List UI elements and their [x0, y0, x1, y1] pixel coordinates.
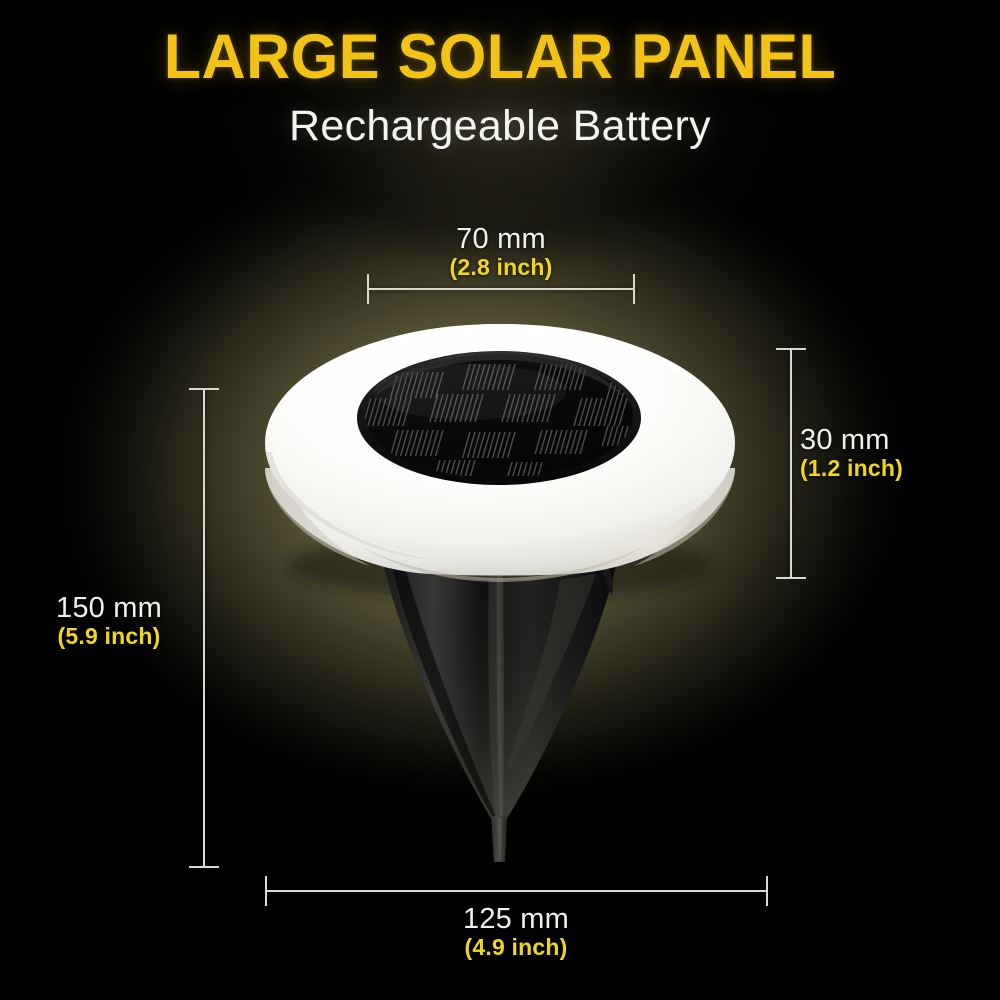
dimension-cap-right — [766, 876, 768, 906]
dimension-cap-bottom — [776, 577, 806, 579]
dimension-cap-top — [776, 348, 806, 350]
dimension-cap-left — [265, 876, 267, 906]
dimension-line-body-height — [790, 348, 792, 579]
product-illustration — [0, 0, 1000, 1000]
infographic-canvas: LARGE SOLAR PANEL Rechargeable Battery — [0, 0, 1000, 1000]
dimension-value-inch: (4.9 inch) — [386, 935, 646, 961]
dimension-label-base-width: 125 mm (4.9 inch) — [386, 903, 646, 961]
dimension-cap-left — [367, 274, 369, 304]
dimension-line-base-width — [265, 890, 768, 892]
dimension-line-total-height — [203, 388, 205, 868]
dimension-line-panel-width — [367, 288, 635, 290]
dimension-cap-bottom — [189, 866, 219, 868]
dimension-cap-top — [189, 388, 219, 390]
dimension-value-mm: 30 mm — [800, 424, 980, 456]
dimension-label-panel-width: 70 mm (2.8 inch) — [381, 223, 621, 281]
dimension-value-inch: (5.9 inch) — [24, 624, 194, 650]
dimension-label-body-height: 30 mm (1.2 inch) — [800, 424, 980, 482]
dimension-value-mm: 125 mm — [386, 903, 646, 935]
dimension-value-mm: 150 mm — [24, 592, 194, 624]
ground-stake — [383, 562, 617, 862]
dimension-label-total-height: 150 mm (5.9 inch) — [24, 592, 194, 650]
dimension-value-inch: (1.2 inch) — [800, 456, 980, 482]
dimension-value-mm: 70 mm — [381, 223, 621, 255]
dimension-cap-right — [633, 274, 635, 304]
dimension-value-inch: (2.8 inch) — [381, 255, 621, 281]
